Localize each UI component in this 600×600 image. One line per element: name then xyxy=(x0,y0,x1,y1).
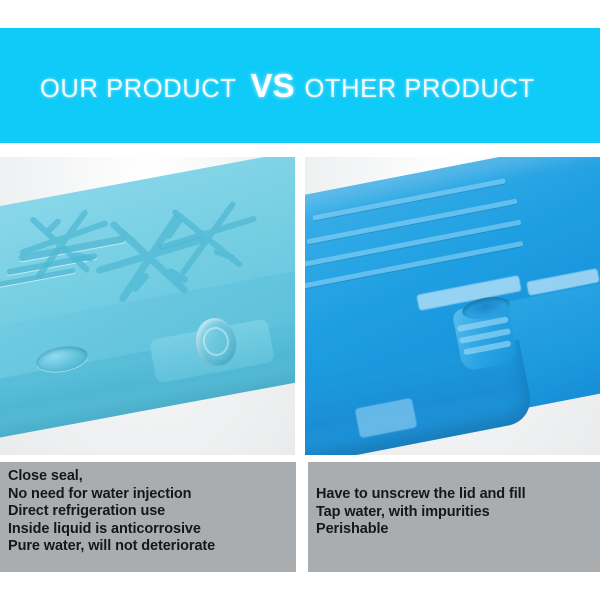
our-product-illustration xyxy=(0,157,295,455)
product-photos xyxy=(0,157,600,455)
caption-line: Inside liquid is anticorrosive xyxy=(8,521,296,539)
neck-thread xyxy=(463,340,511,355)
caption-row: Close seal, No need for water injection … xyxy=(0,462,600,572)
other-product-caption: Have to unscrew the lid and fill Tap wat… xyxy=(308,462,600,572)
header-title: OUR PRODUCT VS OTHER PRODUCT xyxy=(40,67,535,105)
caption-line: Direct refrigeration use xyxy=(8,503,296,521)
other-product-title: OTHER PRODUCT xyxy=(304,75,534,104)
product-comparison-page: OUR PRODUCT VS OTHER PRODUCT xyxy=(0,0,600,600)
caption-line: No need for water injection xyxy=(8,486,296,504)
header-banner: OUR PRODUCT VS OTHER PRODUCT xyxy=(0,28,600,143)
caption-line: Perishable xyxy=(316,521,600,539)
caption-line: Close seal, xyxy=(8,468,296,486)
our-product-title: OUR PRODUCT xyxy=(40,75,236,104)
other-product-illustration xyxy=(305,157,600,455)
caption-line: Pure water, will not deteriorate xyxy=(8,538,296,556)
caption-line: Tap water, with impurities xyxy=(316,504,600,522)
caption-line: Have to unscrew the lid and fill xyxy=(316,486,600,504)
other-product-photo xyxy=(305,157,600,455)
our-product-photo xyxy=(0,157,295,455)
vs-label: VS xyxy=(250,67,294,105)
our-product-caption: Close seal, No need for water injection … xyxy=(0,462,296,572)
